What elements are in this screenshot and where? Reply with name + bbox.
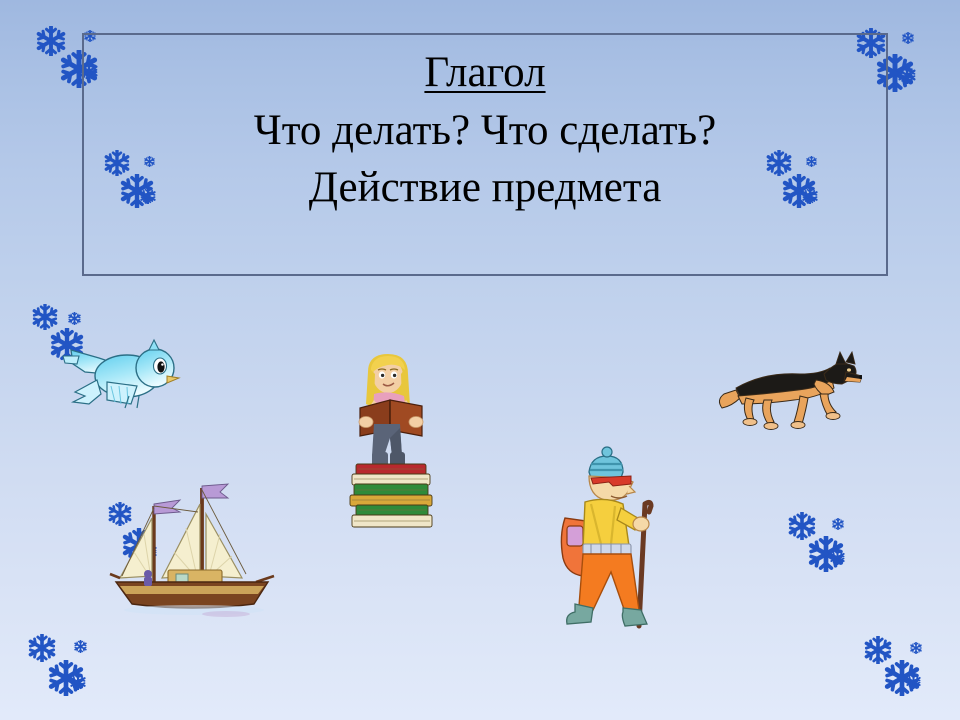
- page-title: Глагол: [424, 50, 545, 96]
- snowflake-icon: [898, 66, 916, 84]
- snowflake-icon: [830, 550, 845, 565]
- walking-hiker-clipart: [553, 442, 669, 642]
- snowflake-icon: [68, 312, 81, 325]
- girl-reading-clipart: [338, 352, 452, 532]
- snowflake-icon: [74, 640, 87, 653]
- snowflake-icon: [910, 642, 922, 654]
- running-dog-clipart: [716, 350, 862, 432]
- slide-canvas: Глагол Что делать? Что сделать? Действие…: [0, 0, 960, 720]
- snowflake-icon: [832, 518, 844, 530]
- snowflake-icon: [32, 304, 58, 330]
- sailing-ship-clipart: [106, 478, 278, 622]
- snowflake-icon: [906, 674, 921, 689]
- verb-definition-line: Действие предмета: [309, 165, 662, 211]
- flying-bird-clipart: [55, 330, 185, 422]
- snowflake-icon: [902, 32, 914, 44]
- verb-questions-line: Что делать? Что сделать?: [254, 108, 716, 154]
- title-text-block: Глагол Что делать? Что сделать? Действие…: [82, 33, 888, 276]
- snowflake-icon: [70, 674, 86, 690]
- snowflake-icon: [28, 634, 56, 662]
